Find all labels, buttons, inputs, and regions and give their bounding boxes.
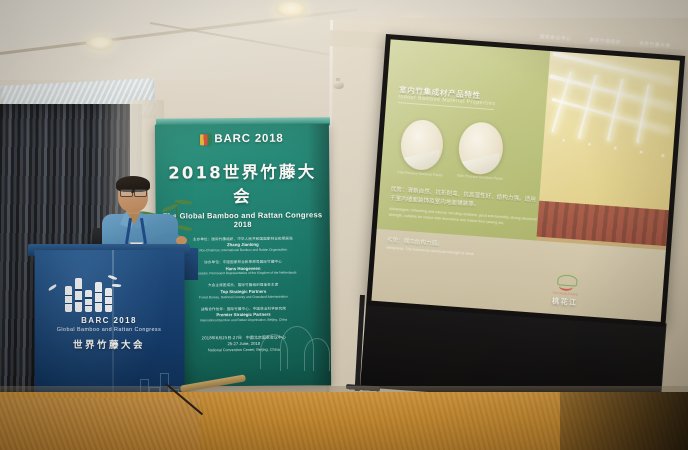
speaker-affiliation: Ambassador, Permanent Representative of … (190, 271, 297, 276)
taohuajiang-leaf-logo-icon (556, 274, 577, 291)
camera-body (333, 81, 344, 89)
banner-speaker-entry: 大会主席团成员、国际竹藤组织理事会主席 Top Strategic Partne… (199, 283, 288, 299)
podium-subtitle-en: Global Bamboo and Rattan Congress (34, 327, 184, 333)
speaker-affiliation: Vice-Chairman, International Bamboo and … (193, 248, 293, 253)
banner-arch-graphic (258, 300, 332, 386)
eyeglasses-icon (134, 189, 147, 197)
podium-barc-label: BARC 2018 (34, 316, 184, 325)
ceiling-downlight-icon (275, 1, 307, 17)
bamboo-stalks-logo-icon (52, 272, 124, 312)
banner-speaker-entry: 主办单位：国际竹藤组织、中华人民共和国国家林业和草原局 Zhang Jianlo… (193, 237, 293, 253)
ceiling-downlight-icon (86, 36, 114, 50)
brand-logo: TAOHUAJIANG 桃花江 (537, 273, 593, 311)
speaker-affiliation: Forest Bureau, National Forestry and Gra… (199, 294, 288, 299)
speaker-role-cn: 协办单位：中国国家林业和草原局国际竹藤中心 (190, 260, 297, 265)
speaker-role-cn: 主办单位：国际竹藤组织、中华人民共和国国家林业和草原局 (193, 237, 293, 242)
banner-barc-row: BARC 2018 (200, 133, 283, 146)
floor-shadow (560, 392, 688, 450)
barc-logo-icon (200, 134, 211, 145)
wall-sign-item: 国际竹藤组织 (589, 37, 621, 44)
wall-sign-item: 世界竹藤大会 (639, 41, 671, 48)
swoosh-shape (559, 281, 574, 291)
wall-sign-item: 国家会议中心 (540, 34, 572, 41)
banner-speaker-entry: 协办单位：中国国家林业和草原局国际竹藤中心 Hans Hoogeveen Amb… (190, 260, 297, 276)
speaker-role-cn: 大会主席团成员、国际竹藤组织理事会主席 (199, 283, 288, 288)
screen-frame: 室内竹集成材产品特性 Indoor Bamboo Material Proper… (366, 34, 685, 327)
conference-room-photo: 国家会议中心 国际竹藤组织 世界竹藤大会 BARC 2018 2018世界竹藤大… (0, 0, 688, 450)
banner-barc-label: BARC 2018 (214, 133, 283, 146)
screen-surface: 室内竹集成材产品特性 Indoor Bamboo Material Proper… (371, 39, 679, 322)
projection-screen: 室内竹集成材产品特性 Indoor Bamboo Material Proper… (362, 34, 685, 385)
carpet-floor-left (0, 398, 200, 450)
eyeglasses-bridge (131, 191, 134, 193)
security-camera-icon (331, 78, 344, 90)
